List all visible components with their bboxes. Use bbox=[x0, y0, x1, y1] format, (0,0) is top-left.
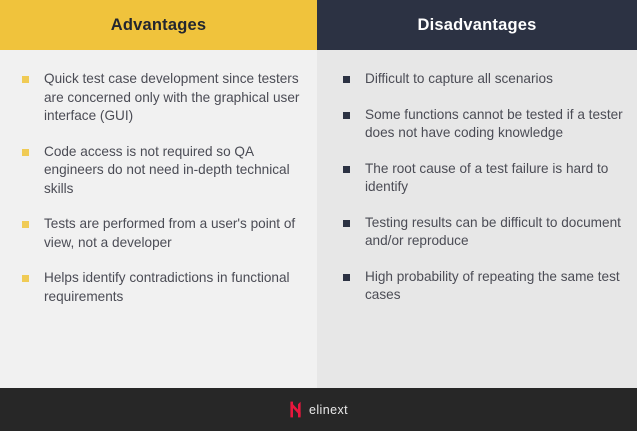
list-item-text: Code access is not required so QA engine… bbox=[44, 143, 303, 199]
advantages-column: Quick test case development since tester… bbox=[0, 50, 317, 388]
elinext-n-mark-icon bbox=[289, 401, 302, 418]
disadvantages-bullet-list: Difficult to capture all scenarios Some … bbox=[343, 70, 627, 305]
list-item-text: Tests are performed from a user's point … bbox=[44, 215, 303, 252]
square-bullet-icon bbox=[22, 221, 29, 228]
body-row: Quick test case development since tester… bbox=[0, 50, 637, 388]
list-item-text: The root cause of a test failure is hard… bbox=[365, 160, 627, 197]
disadvantages-column-title: Disadvantages bbox=[417, 16, 536, 35]
list-item-text: Helps identify contradictions in functio… bbox=[44, 269, 303, 306]
list-item-text: Difficult to capture all scenarios bbox=[365, 70, 627, 89]
advantages-column-title: Advantages bbox=[111, 16, 207, 35]
list-item-text: High probability of repeating the same t… bbox=[365, 268, 627, 305]
square-bullet-icon bbox=[343, 274, 350, 281]
advantages-disadvantages-infographic: Advantages Disadvantages Quick test case… bbox=[0, 0, 637, 431]
header-row: Advantages Disadvantages bbox=[0, 0, 637, 50]
advantages-header-cell: Advantages bbox=[0, 0, 317, 50]
list-item: Some functions cannot be tested if a tes… bbox=[343, 106, 627, 143]
list-item: Code access is not required so QA engine… bbox=[22, 143, 303, 199]
list-item-text: Testing results can be difficult to docu… bbox=[365, 214, 627, 251]
advantages-bullet-list: Quick test case development since tester… bbox=[22, 70, 303, 306]
disadvantages-header-cell: Disadvantages bbox=[317, 0, 637, 50]
disadvantages-column: Difficult to capture all scenarios Some … bbox=[317, 50, 637, 388]
footer-bar: elinext bbox=[0, 388, 637, 431]
square-bullet-icon bbox=[22, 76, 29, 83]
list-item: Testing results can be difficult to docu… bbox=[343, 214, 627, 251]
square-bullet-icon bbox=[343, 76, 350, 83]
elinext-logo-text: elinext bbox=[309, 403, 348, 417]
square-bullet-icon bbox=[22, 149, 29, 156]
list-item: Difficult to capture all scenarios bbox=[343, 70, 627, 89]
square-bullet-icon bbox=[343, 166, 350, 173]
list-item: Helps identify contradictions in functio… bbox=[22, 269, 303, 306]
list-item: Tests are performed from a user's point … bbox=[22, 215, 303, 252]
square-bullet-icon bbox=[343, 220, 350, 227]
square-bullet-icon bbox=[343, 112, 350, 119]
list-item-text: Quick test case development since tester… bbox=[44, 70, 303, 126]
list-item: The root cause of a test failure is hard… bbox=[343, 160, 627, 197]
elinext-logo: elinext bbox=[289, 401, 348, 418]
square-bullet-icon bbox=[22, 275, 29, 282]
list-item-text: Some functions cannot be tested if a tes… bbox=[365, 106, 627, 143]
list-item: High probability of repeating the same t… bbox=[343, 268, 627, 305]
list-item: Quick test case development since tester… bbox=[22, 70, 303, 126]
